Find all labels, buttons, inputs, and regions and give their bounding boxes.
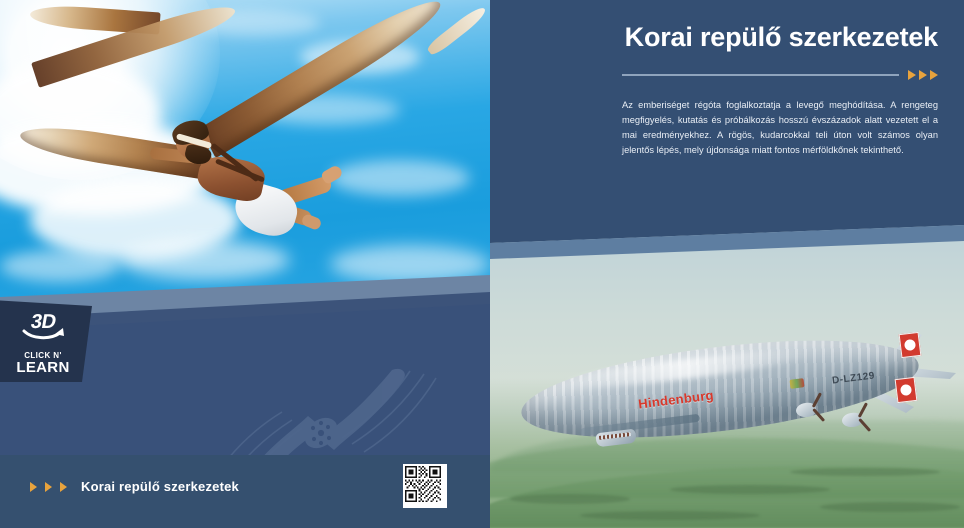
qr-code[interactable] xyxy=(403,464,447,508)
separator-line xyxy=(622,74,899,76)
hindenburg-airship-photo: Hindenburg D-LZ129 xyxy=(500,325,940,455)
triangle-right-icon xyxy=(919,70,927,80)
intro-paragraph: Az emberiséget régóta foglalkoztatja a l… xyxy=(622,98,938,158)
header-text-block: Korai repülő szerkezetek Az emberiséget … xyxy=(622,22,938,168)
triangle-right-icon xyxy=(930,70,938,80)
terrain-detail xyxy=(790,468,940,476)
airship-hull-ribbing xyxy=(516,323,923,455)
page-title: Korai repülő szerkezetek xyxy=(622,22,938,52)
separator-triangles xyxy=(908,70,938,80)
airship-engine xyxy=(795,402,817,418)
triangle-right-icon xyxy=(908,70,916,80)
propeller-blade xyxy=(858,402,868,418)
terrain-detail xyxy=(580,511,760,520)
airship-emblem xyxy=(790,378,805,389)
terrain-detail xyxy=(670,485,830,494)
terrain-detail xyxy=(510,494,630,504)
footer-label: Korai repülő szerkezetek xyxy=(81,479,239,494)
terrain-detail xyxy=(820,502,960,512)
badge-learn-label: LEARN xyxy=(16,360,69,375)
triangle-right-icon xyxy=(60,482,67,492)
icarus-winged-man-photo xyxy=(30,8,460,258)
footer-label-row: Korai repülő szerkezetek xyxy=(30,479,239,494)
airship-engine xyxy=(841,412,863,428)
left-panel: 3D CLICK N' LEARN Korai repülő szerkezet… xyxy=(0,0,490,528)
wing-right xyxy=(200,0,447,158)
triangle-right-icon xyxy=(45,482,52,492)
airship-tail-marking xyxy=(899,332,922,358)
propeller-blade xyxy=(858,418,871,432)
triangle-right-icon xyxy=(30,482,37,492)
badge-3d-label: 3D xyxy=(29,312,57,332)
page-root: 3D CLICK N' LEARN Korai repülő szerkezet… xyxy=(0,0,964,528)
foot xyxy=(300,213,322,231)
3d-click-n-learn-badge[interactable]: 3D CLICK N' LEARN xyxy=(0,300,92,382)
airship-tail-marking xyxy=(895,377,918,403)
title-separator xyxy=(622,70,938,80)
